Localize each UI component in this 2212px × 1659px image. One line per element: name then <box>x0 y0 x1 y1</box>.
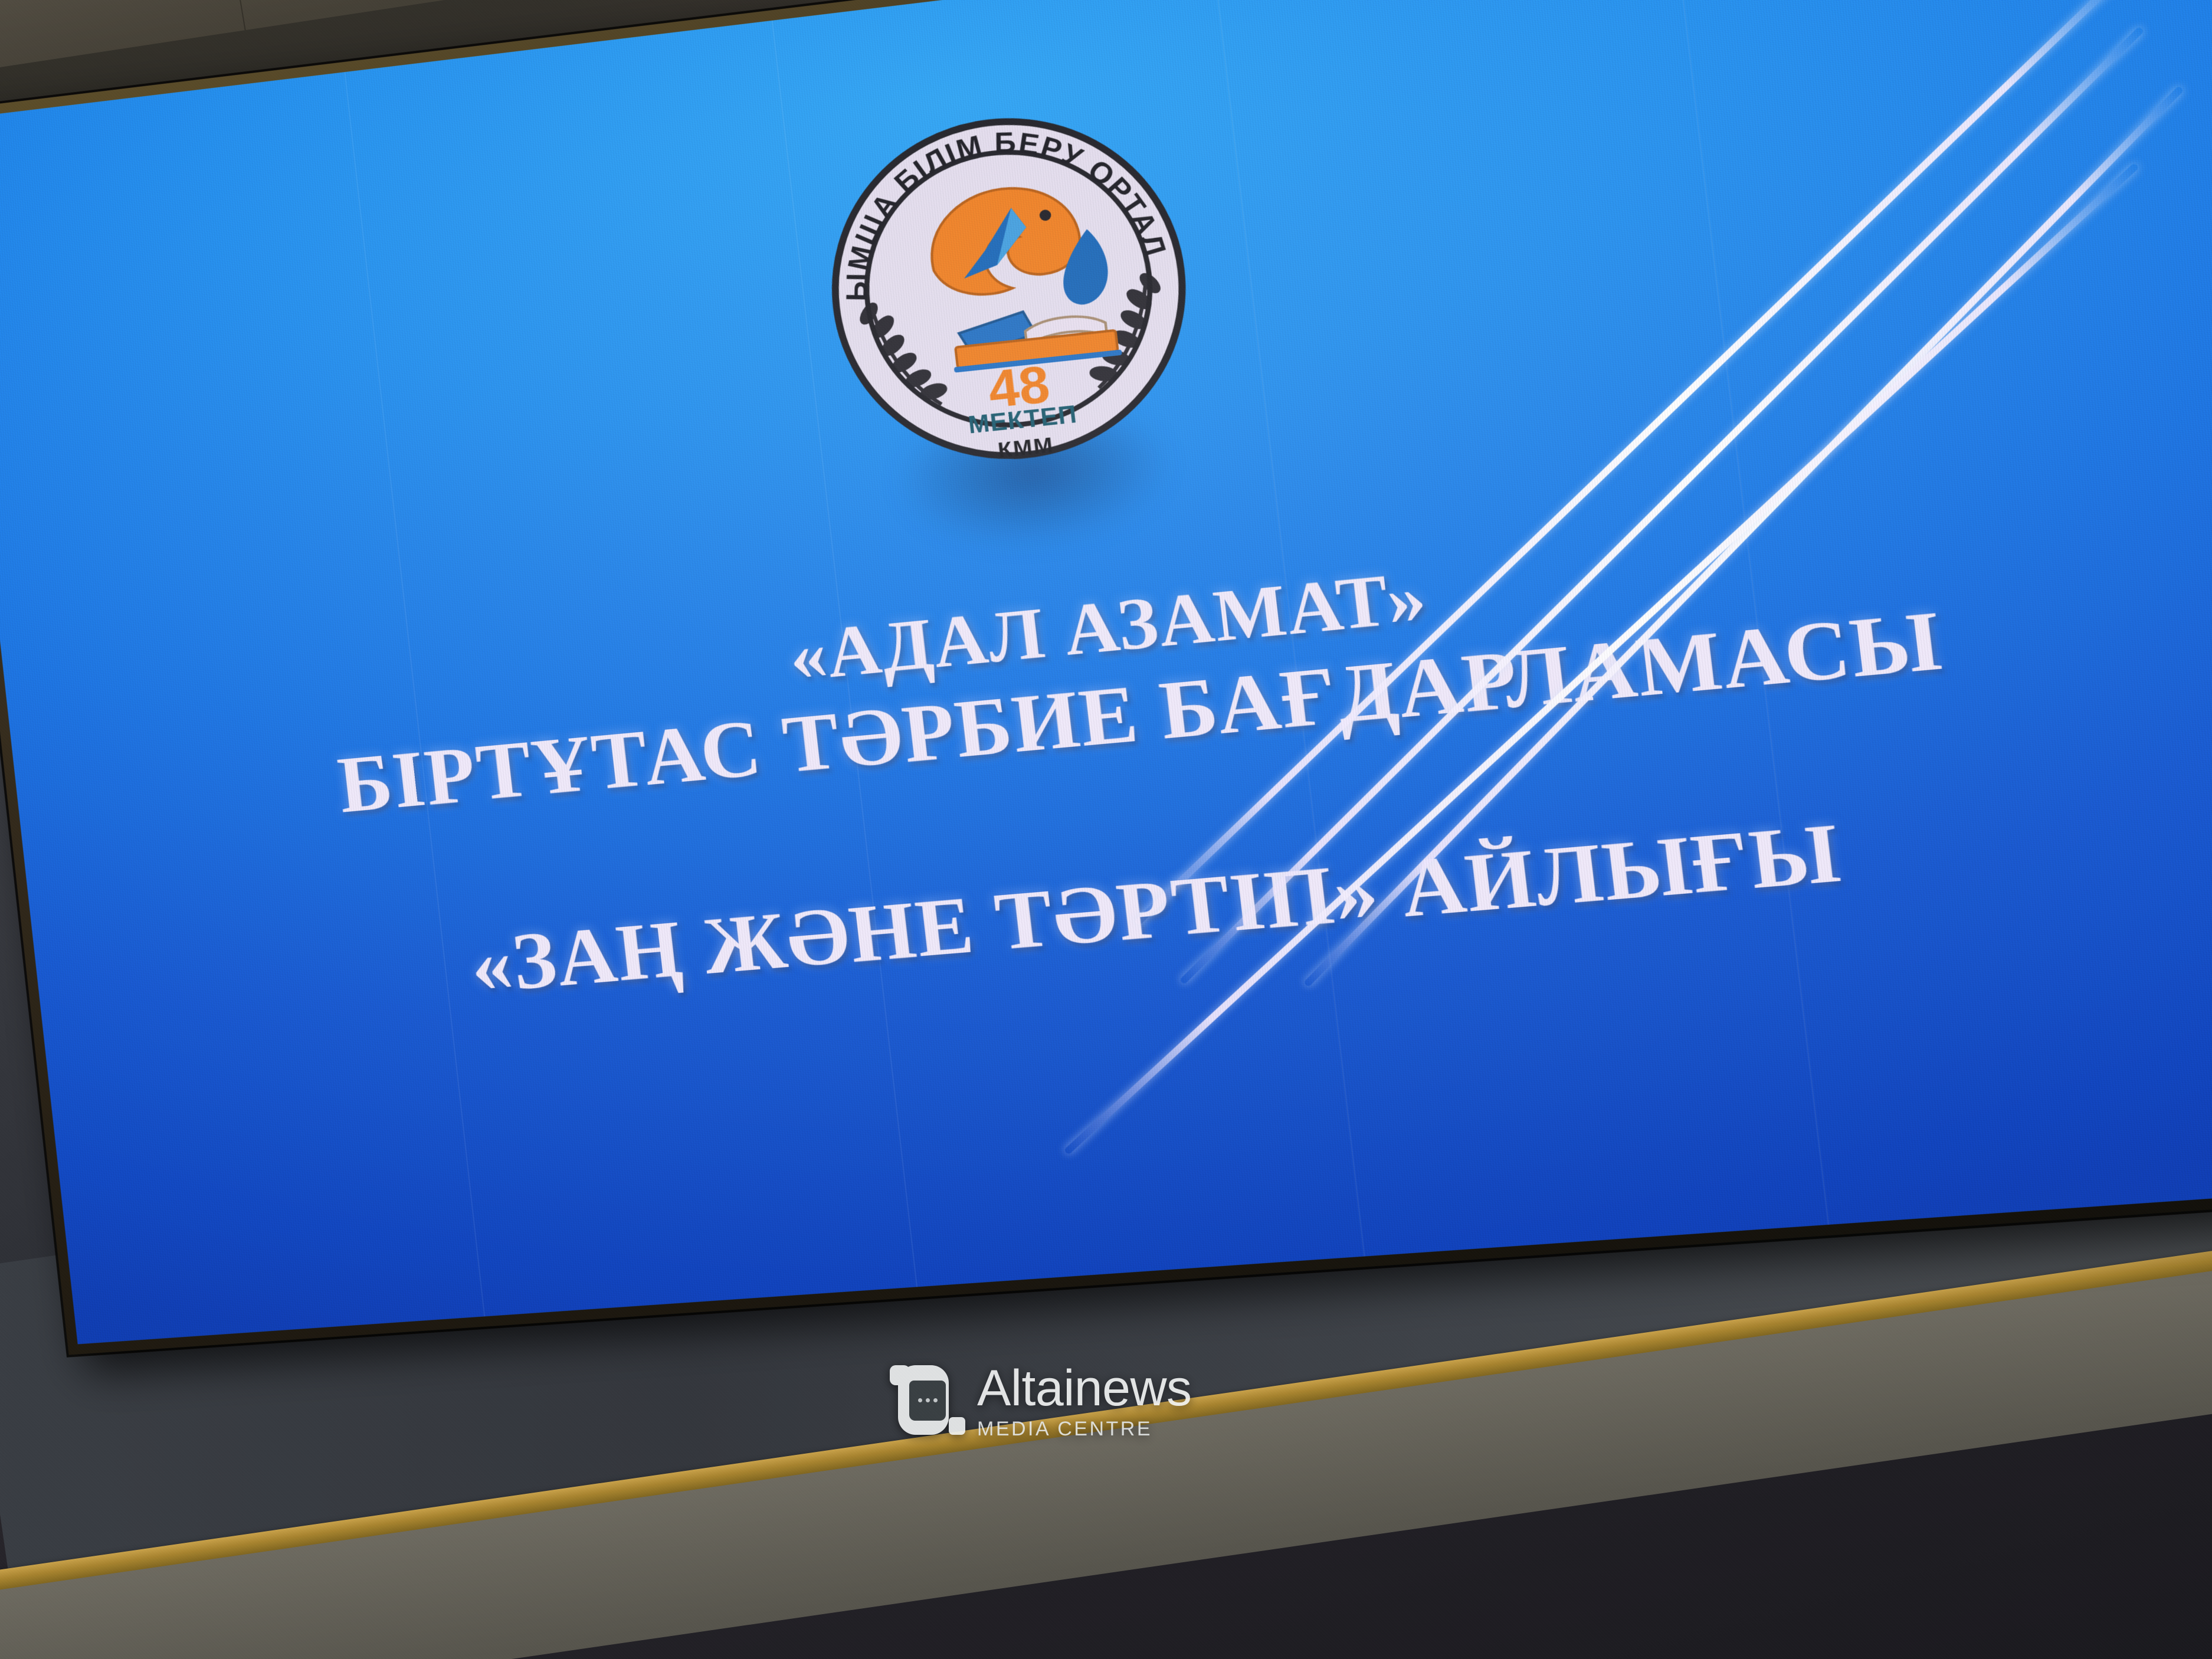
logo-inner-block <box>909 1381 946 1421</box>
logo-dot <box>918 1398 922 1402</box>
logo-dot <box>933 1398 938 1402</box>
watermark-subtitle: MEDIA CENTRE <box>977 1419 1192 1439</box>
watermark-name: Altainews <box>977 1363 1192 1414</box>
led-video-wall[interactable]: ҚОСЫМША БІЛІМ БЕРУ ОРТАЛЫҒЫ <box>0 0 2212 1355</box>
screenshot-root: ҚОСЫМША БІЛІМ БЕРУ ОРТАЛЫҒЫ <box>0 0 2212 1659</box>
logo-org-abbrev: КММ <box>997 432 1055 463</box>
screen-panel: ҚОСЫМША БІЛІМ БЕРУ ОРТАЛЫҒЫ <box>0 0 2212 1344</box>
watermark-text: Altainews MEDIA CENTRE <box>977 1363 1192 1439</box>
logo-dot <box>926 1398 930 1402</box>
screen-bezel: ҚОСЫМША БІЛІМ БЕРУ ОРТАЛЫҒЫ <box>0 0 2212 1355</box>
altainews-logo-icon <box>890 1365 959 1437</box>
altainews-watermark: Altainews MEDIA CENTRE <box>890 1363 1192 1439</box>
school-logo: ҚОСЫМША БІЛІМ БЕРУ ОРТАЛЫҒЫ <box>812 97 1206 477</box>
slide-text-block: «АДАЛ АЗАМАТ» БІРТҰТАС ТӘРБИЕ БАҒДАРЛАМА… <box>6 474 2212 1044</box>
logo-tail-accent <box>949 1417 965 1435</box>
